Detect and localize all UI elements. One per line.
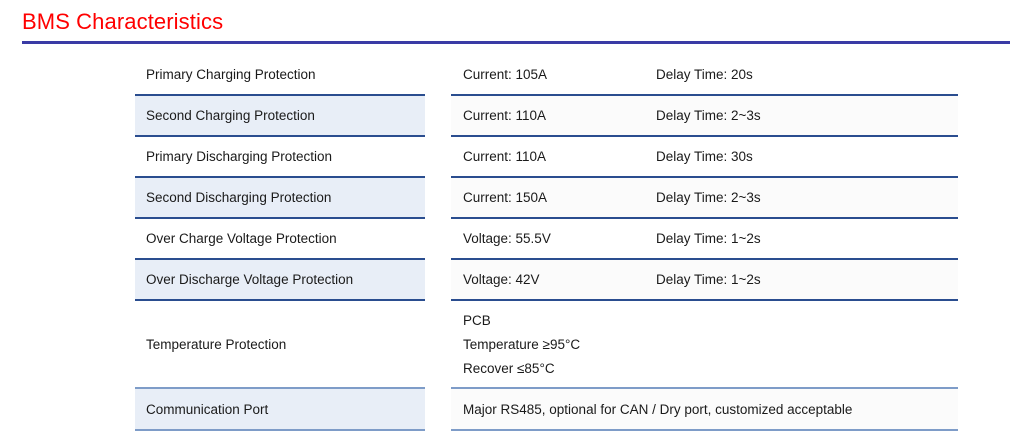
row-value-cell: PCB Temperature ≥95°C Recover ≤85°C xyxy=(451,301,958,389)
value-current: Current: 105A xyxy=(463,67,656,82)
value-recover-threshold: Recover ≤85°C xyxy=(463,361,958,376)
value-pcb: PCB xyxy=(463,313,958,328)
value-current: Current: 110A xyxy=(463,149,656,164)
row-label: Primary Discharging Protection xyxy=(146,149,332,164)
row-label-cell: Second Discharging Protection xyxy=(135,178,425,219)
column-gap xyxy=(425,301,451,389)
row-value-cell: Current: 150A Delay Time: 2~3s xyxy=(451,178,958,219)
row-label-cell: Communication Port xyxy=(135,389,425,431)
value-pair: Current: 150A Delay Time: 2~3s xyxy=(463,190,958,205)
column-gap xyxy=(425,55,451,96)
column-gap xyxy=(425,178,451,219)
value-delay-time: Delay Time: 2~3s xyxy=(656,108,958,123)
row-label-cell: Primary Discharging Protection xyxy=(135,137,425,178)
row-label: Second Charging Protection xyxy=(146,108,315,123)
row-label: Primary Charging Protection xyxy=(146,67,316,82)
row-label-cell: Over Charge Voltage Protection xyxy=(135,219,425,260)
page-title: BMS Characteristics xyxy=(22,9,223,35)
column-gap xyxy=(425,260,451,301)
value-delay-time: Delay Time: 20s xyxy=(656,67,958,82)
value-stack: PCB Temperature ≥95°C Recover ≤85°C xyxy=(463,309,958,380)
row-label-cell: Second Charging Protection xyxy=(135,96,425,137)
table-row: Communication Port Major RS485, optional… xyxy=(135,389,958,431)
row-label: Over Charge Voltage Protection xyxy=(146,231,337,246)
row-label: Communication Port xyxy=(146,402,268,417)
column-gap xyxy=(425,96,451,137)
row-label-cell: Over Discharge Voltage Protection xyxy=(135,260,425,301)
row-label: Over Discharge Voltage Protection xyxy=(146,272,353,287)
value-current: Current: 150A xyxy=(463,190,656,205)
table-row: Primary Charging Protection Current: 105… xyxy=(135,55,958,96)
column-gap xyxy=(425,219,451,260)
column-gap xyxy=(425,137,451,178)
column-gap xyxy=(425,389,451,431)
table-row: Over Charge Voltage Protection Voltage: … xyxy=(135,219,958,260)
value-voltage: Voltage: 42V xyxy=(463,272,656,287)
table-row: Second Discharging Protection Current: 1… xyxy=(135,178,958,219)
title-divider xyxy=(22,41,1010,44)
value-temperature-threshold: Temperature ≥95°C xyxy=(463,337,958,352)
value-pair: Current: 105A Delay Time: 20s xyxy=(463,67,958,82)
value-delay-time: Delay Time: 1~2s xyxy=(656,272,958,287)
row-label: Second Discharging Protection xyxy=(146,190,331,205)
row-value-cell: Current: 110A Delay Time: 2~3s xyxy=(451,96,958,137)
value-delay-time: Delay Time: 1~2s xyxy=(656,231,958,246)
value-voltage: Voltage: 55.5V xyxy=(463,231,656,246)
value-pair: Voltage: 55.5V Delay Time: 1~2s xyxy=(463,231,958,246)
value-current: Current: 110A xyxy=(463,108,656,123)
table-row: Primary Discharging Protection Current: … xyxy=(135,137,958,178)
value-communication-port: Major RS485, optional for CAN / Dry port… xyxy=(463,402,852,417)
row-value-cell: Current: 105A Delay Time: 20s xyxy=(451,55,958,96)
row-value-cell: Major RS485, optional for CAN / Dry port… xyxy=(451,389,958,431)
value-delay-time: Delay Time: 30s xyxy=(656,149,958,164)
value-pair: Current: 110A Delay Time: 2~3s xyxy=(463,108,958,123)
table-row: Temperature Protection PCB Temperature ≥… xyxy=(135,301,958,389)
row-value-cell: Current: 110A Delay Time: 30s xyxy=(451,137,958,178)
table-row: Second Charging Protection Current: 110A… xyxy=(135,96,958,137)
bms-characteristics-table: Primary Charging Protection Current: 105… xyxy=(135,55,958,443)
value-pair: Current: 110A Delay Time: 30s xyxy=(463,149,958,164)
value-pair: Voltage: 42V Delay Time: 1~2s xyxy=(463,272,958,287)
value-delay-time: Delay Time: 2~3s xyxy=(656,190,958,205)
row-value-cell: Voltage: 42V Delay Time: 1~2s xyxy=(451,260,958,301)
row-value-cell: Voltage: 55.5V Delay Time: 1~2s xyxy=(451,219,958,260)
table-row: Over Discharge Voltage Protection Voltag… xyxy=(135,260,958,301)
row-label-cell: Temperature Protection xyxy=(135,301,425,389)
row-label: Temperature Protection xyxy=(146,337,286,352)
row-label-cell: Primary Charging Protection xyxy=(135,55,425,96)
